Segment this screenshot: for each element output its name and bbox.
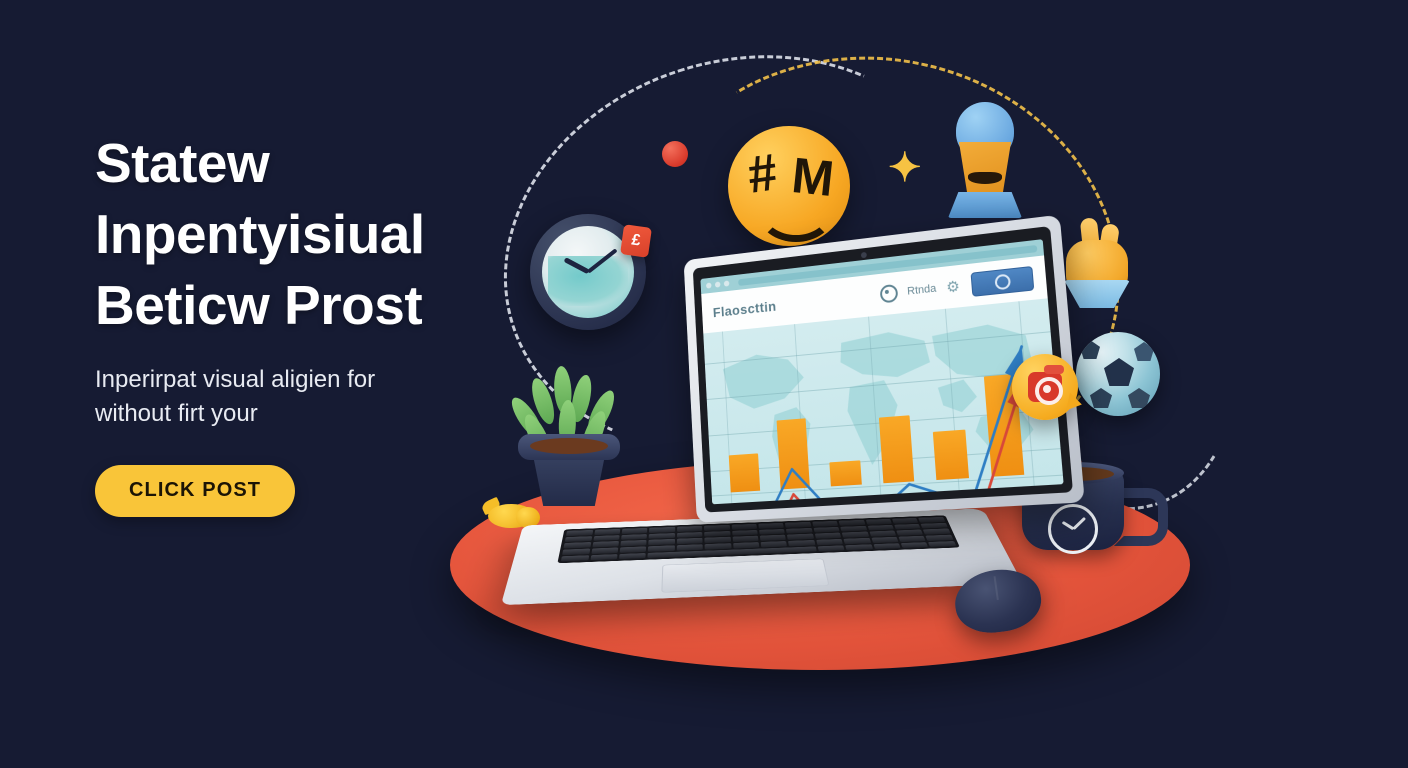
headline-line-2: Inpentyisiual	[95, 203, 425, 265]
key	[871, 537, 898, 543]
laptop-screen: Flaoscttin Rtnda ⚙	[700, 239, 1063, 504]
key	[677, 532, 703, 538]
smiley-mouth	[758, 184, 834, 242]
smiley-emoji: # M	[728, 126, 850, 246]
headline-line-1: Statew	[95, 132, 269, 194]
key	[594, 529, 620, 535]
key	[901, 542, 929, 548]
key	[732, 536, 758, 542]
key	[815, 533, 842, 539]
hero-subtitle: Inperirpat visual aligien for without fi…	[95, 363, 455, 431]
ball-patch	[1104, 358, 1134, 386]
gear-icon[interactable]: ⚙	[946, 278, 962, 295]
key	[896, 530, 923, 536]
laptop-trackpad[interactable]	[661, 558, 829, 592]
bust-statue-icon	[938, 102, 1034, 220]
statue-body	[954, 142, 1016, 196]
camera-lens	[1035, 377, 1063, 405]
key	[621, 534, 647, 540]
camera-icon	[1028, 372, 1062, 402]
key	[677, 526, 703, 532]
circle-target-icon	[994, 273, 1011, 290]
red-sphere-decoration	[662, 141, 688, 167]
nav-link-rtnda[interactable]: Rtnda	[907, 283, 937, 298]
headline-line-3: Beticw Prost	[95, 274, 422, 336]
key	[591, 547, 618, 553]
key	[839, 520, 865, 526]
key	[758, 523, 784, 529]
key	[704, 525, 730, 531]
key	[733, 542, 760, 548]
window-close-dot[interactable]	[706, 282, 712, 288]
key	[562, 548, 590, 554]
key	[845, 544, 872, 550]
key	[649, 533, 675, 539]
camera-top-bar	[1044, 365, 1064, 374]
window-maximize-dot[interactable]	[724, 280, 730, 286]
key	[813, 527, 839, 533]
key	[705, 543, 731, 549]
key	[788, 540, 815, 546]
key	[926, 535, 954, 541]
key	[899, 536, 926, 542]
key	[592, 541, 619, 547]
webcam-icon	[861, 252, 867, 259]
key	[593, 535, 620, 541]
promo-banner: StatewInpentyisiualBeticw Prost Inperirp…	[0, 0, 1408, 768]
hero-copy: StatewInpentyisiualBeticw Prost Inperirp…	[95, 128, 495, 517]
key	[561, 555, 589, 562]
target-icon[interactable]	[879, 284, 898, 304]
window-minimize-dot[interactable]	[715, 281, 721, 287]
ball-patch	[1128, 388, 1150, 408]
click-post-button[interactable]: CLICK POST	[95, 465, 295, 517]
site-logo[interactable]: Flaoscttin	[712, 298, 776, 320]
camera-badge[interactable]	[1012, 354, 1078, 420]
key	[865, 519, 891, 525]
analytics-chart	[703, 298, 1063, 504]
key	[622, 528, 648, 534]
key	[869, 531, 896, 537]
key	[919, 517, 946, 523]
key	[786, 528, 812, 534]
laptop-base	[501, 508, 1023, 605]
key	[565, 536, 592, 542]
key	[894, 524, 921, 530]
key	[705, 537, 731, 543]
primary-nav-button[interactable]	[971, 266, 1035, 297]
key	[564, 542, 591, 548]
key	[704, 531, 730, 537]
key	[921, 523, 948, 529]
key	[648, 545, 675, 551]
key	[566, 530, 593, 536]
star-plus-icon: ✦	[888, 152, 920, 184]
key	[840, 526, 867, 532]
chart-trend-arrowheads	[703, 298, 1063, 504]
key	[867, 525, 894, 531]
statue-mustache	[968, 172, 1002, 184]
key	[759, 529, 785, 535]
key	[842, 532, 869, 538]
key	[619, 553, 646, 559]
key	[649, 539, 675, 545]
laptop-keyboard[interactable]	[557, 515, 959, 563]
key	[928, 541, 956, 547]
key	[649, 527, 675, 533]
key	[731, 524, 757, 530]
key	[732, 530, 758, 536]
key	[760, 535, 786, 541]
key	[620, 540, 647, 546]
key	[677, 544, 703, 550]
key	[844, 538, 871, 544]
key	[892, 518, 919, 524]
key	[873, 543, 901, 549]
illustration-scene: ✦ # M	[440, 0, 1408, 768]
page-title: StatewInpentyisiualBeticw Prost	[95, 128, 495, 341]
statue-base	[948, 192, 1022, 218]
key	[812, 521, 838, 527]
key	[620, 546, 647, 552]
key	[761, 541, 788, 547]
key	[817, 545, 844, 551]
key	[677, 538, 703, 544]
key	[923, 529, 950, 535]
key	[785, 522, 811, 528]
key	[787, 534, 814, 540]
key	[590, 554, 618, 560]
navbar-right-group: Rtnda ⚙	[879, 266, 1034, 306]
key	[816, 539, 843, 545]
